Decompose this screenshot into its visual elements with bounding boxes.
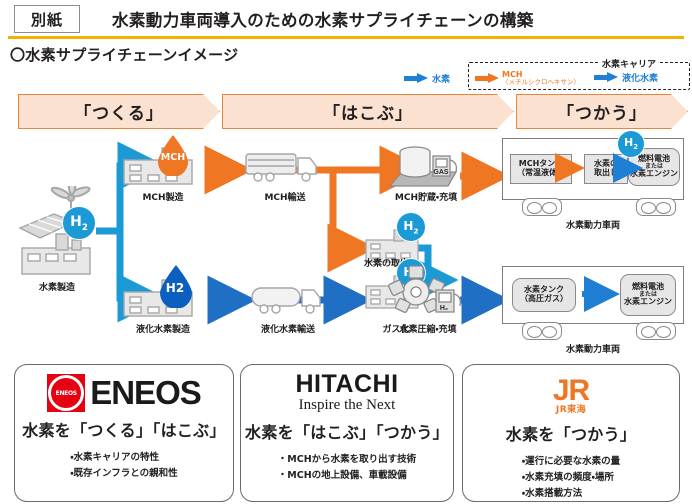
eneos-mark-icon: ENEOS xyxy=(47,374,85,412)
card-eneos[interactable]: ENEOS ENEOS 水素を「つくる」「はこぶ」 ・水素キャリアの特性 ・既存… xyxy=(14,364,234,502)
attachment-badge: 別紙 xyxy=(14,5,80,33)
bullet-item: ・MCHから水素を取り出す技術 xyxy=(278,451,416,465)
header-bar: 別紙 水素動力車両導入のための水素サプライチェーンの構築 xyxy=(0,0,692,40)
phase-banner-make: 「つくる」 xyxy=(18,94,220,129)
jr-subbrand: JR東海 xyxy=(556,406,586,415)
section-heading: 〇水素サプライチェーンイメージ xyxy=(10,44,238,65)
hydrogen-badge-railcar-top: H2 xyxy=(617,130,645,158)
bullet-item: ・MCHの地上設備、車載設備 xyxy=(278,467,416,481)
railcar-caption-bottom: 水素動力車両 xyxy=(528,342,658,355)
legend-carrier-group: 水素キャリア MCH （メチルシクロヘキサン） 液化水素 xyxy=(468,62,690,90)
arrow-right-icon xyxy=(475,73,499,84)
supply-chain-diagram: H2 水素製造 MCH MCH製造 xyxy=(0,128,692,358)
railcar-hydrogen-internal-arrow xyxy=(502,266,682,322)
bullet-item: ・水素キャリアの特性 xyxy=(70,449,177,463)
railcar-mch-internal-arrows xyxy=(502,138,682,198)
card-bullets-jr: ・運行に必要な水素の量 ・水素充填の頻度・場所 ・水素搭載方法 xyxy=(522,453,620,499)
legend-item-liquid-hydrogen: 液化水素 xyxy=(594,71,658,84)
mch-droplet-badge: MCH xyxy=(156,134,190,174)
hitachi-logo: HITACHI Inspire the Next xyxy=(295,369,398,417)
node-mch-storage-icon: GAS xyxy=(386,142,464,190)
hydrogen-badge-extraction: H2 xyxy=(396,212,426,242)
bullet-item: ・運行に必要な水素の量 xyxy=(522,453,620,467)
node-label-hydrogen-production: 水素製造 xyxy=(10,280,104,293)
node-label-mch-production: MCH製造 xyxy=(118,190,208,203)
partner-cards: ENEOS ENEOS 水素を「つくる」「はこぶ」 ・水素キャリアの特性 ・既存… xyxy=(0,364,692,504)
node-label-mch-storage: MCH貯蔵・充填 xyxy=(378,190,474,203)
node-label-hydrogen-compression: 水素圧縮・充填 xyxy=(378,322,478,335)
eneos-logo: ENEOS ENEOS xyxy=(47,371,201,415)
node-label-liquid-hydrogen-production: 液化水素製造 xyxy=(110,322,216,335)
card-headline-jr: 水素を「つかう」 xyxy=(506,421,636,445)
legend-label-mch-full: （メチルシクロヘキサン） xyxy=(502,79,580,86)
bogie-icon xyxy=(522,322,562,340)
legend: 水素 水素キャリア MCH （メチルシクロヘキサン） 液化水素 xyxy=(404,60,688,90)
node-label-liquid-hydrogen-transport: 液化水素輸送 xyxy=(238,322,338,335)
node-liquid-hydrogen-transport-icon xyxy=(248,278,328,320)
mch-droplet-label: MCH xyxy=(161,152,185,163)
bogie-icon xyxy=(636,198,676,216)
legend-item-hydrogen: 水素 xyxy=(404,72,450,85)
bullet-item: ・水素充填の頻度・場所 xyxy=(522,469,620,483)
legend-item-mch: MCH （メチルシクロヘキサン） xyxy=(475,71,580,86)
bogie-icon xyxy=(636,322,676,340)
page-title: 水素動力車両導入のための水素サプライチェーンの構築 xyxy=(112,6,632,32)
hitachi-wordmark: HITACHI xyxy=(295,372,398,397)
liquid-hydrogen-droplet-badge: H2 xyxy=(158,264,192,304)
card-headline-eneos: 水素を「つくる」「はこぶ」 xyxy=(22,417,226,441)
card-bullets-hitachi: ・MCHから水素を取り出す技術 ・MCHの地上設備、車載設備 xyxy=(278,451,416,481)
railcar-caption-top: 水素動力車両 xyxy=(528,218,658,231)
card-headline-hitachi: 水素を「はこぶ」「つかう」 xyxy=(245,419,449,443)
card-bullets-eneos: ・水素キャリアの特性 ・既存インフラとの親和性 xyxy=(70,449,177,479)
bullet-item: ・水素搭載方法 xyxy=(522,485,620,499)
phase-banner-use: 「つかう」 xyxy=(516,94,688,129)
hydrogen-pump-label: H₂ xyxy=(440,305,448,312)
bullet-item: ・既存インフラとの親和性 xyxy=(70,465,177,479)
node-label-mch-transport: MCH輸送 xyxy=(240,190,330,203)
card-hitachi[interactable]: HITACHI Inspire the Next 水素を「はこぶ」「つかう」 ・… xyxy=(240,364,454,502)
bogie-icon xyxy=(522,198,562,216)
node-mch-transport-icon xyxy=(244,146,324,186)
legend-carrier-title: 水素キャリア xyxy=(599,57,659,70)
gas-pump-label: GAS xyxy=(433,169,449,176)
hitachi-tagline: Inspire the Next xyxy=(299,397,396,414)
hydrogen-badge-source: H2 xyxy=(62,206,96,240)
eneos-wordmark: ENEOS xyxy=(90,374,201,412)
phase-banner-carry: 「はこぶ」 xyxy=(222,94,514,129)
legend-label-liquid-hydrogen: 液化水素 xyxy=(622,71,658,84)
jr-wordmark: JR xyxy=(553,376,589,406)
liquid-hydrogen-droplet-label: H2 xyxy=(166,281,184,295)
arrow-right-icon xyxy=(404,73,428,84)
header-divider xyxy=(8,36,684,39)
card-jr-central[interactable]: JR JR東海 水素を「つかう」 ・運行に必要な水素の量 ・水素充填の頻度・場所… xyxy=(462,364,680,502)
arrow-right-icon xyxy=(594,72,618,83)
jr-logo: JR JR東海 xyxy=(553,371,589,419)
legend-label-hydrogen: 水素 xyxy=(432,72,450,85)
node-hydrogen-compression-icon: H₂ xyxy=(388,264,468,320)
